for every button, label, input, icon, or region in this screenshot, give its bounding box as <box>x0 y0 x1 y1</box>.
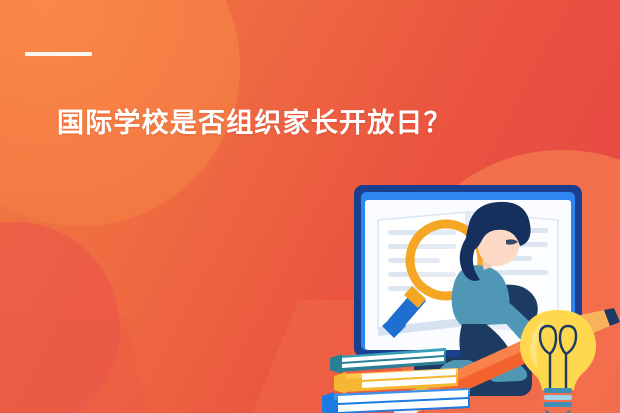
banner: 国际学校是否组织家长开放日？ <box>0 0 620 413</box>
page-title: 国际学校是否组织家长开放日？ <box>57 104 452 142</box>
online-learning-illustration <box>318 168 620 413</box>
accent-rule <box>25 52 92 56</box>
lightbulb-icon <box>520 310 596 413</box>
